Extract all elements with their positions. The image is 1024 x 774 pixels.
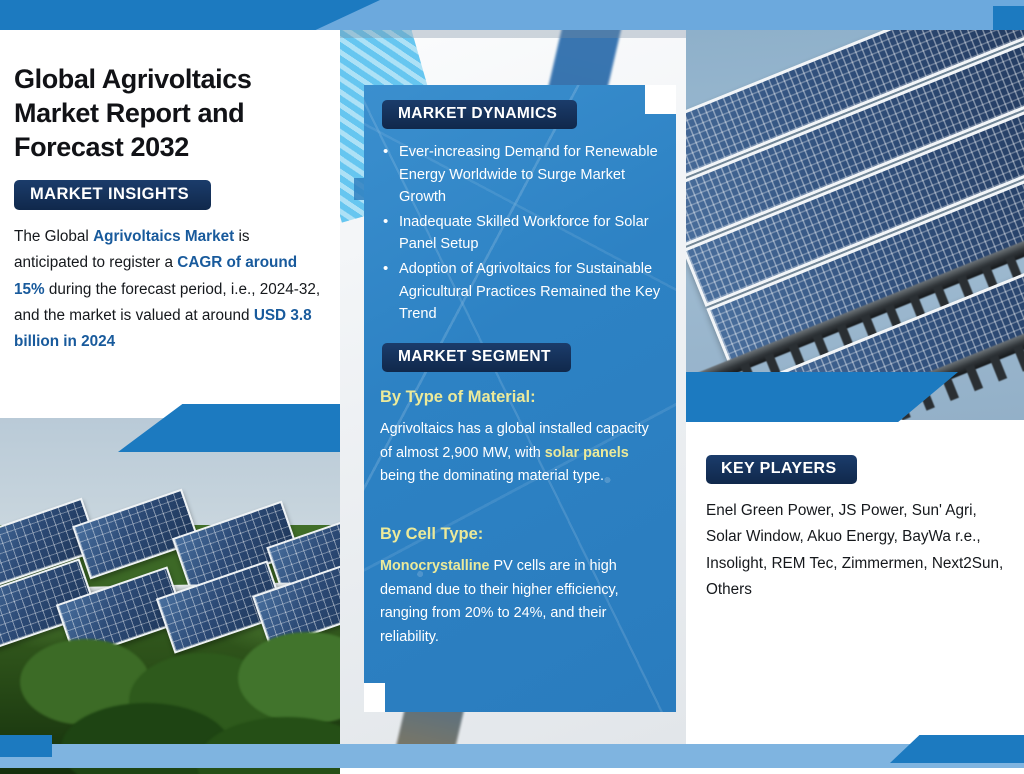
right-column: KEY PLAYERS Enel Green Power, JS Power, … bbox=[686, 30, 1024, 744]
bottom-light-band bbox=[0, 744, 1024, 768]
market-card: MARKET DYNAMICS Ever-increasing Demand f… bbox=[364, 85, 676, 712]
right-solar-photo bbox=[686, 30, 1024, 420]
segment-heading-material: By Type of Material: bbox=[380, 388, 662, 407]
segment-text-cell-type: Monocrystalline PV cells are in high dem… bbox=[380, 555, 662, 650]
segment-heading-cell-type: By Cell Type: bbox=[380, 525, 662, 544]
segment-text-material: Agrivoltaics has a global installed capa… bbox=[380, 418, 662, 489]
bottom-left-blue-square bbox=[0, 735, 52, 757]
infographic-canvas: Global Agrivoltaics Market Report and Fo… bbox=[0, 0, 1024, 768]
insights-bold-1: Agrivoltaics Market bbox=[93, 228, 234, 245]
right-text-area: KEY PLAYERS Enel Green Power, JS Power, … bbox=[706, 455, 1006, 603]
market-dynamics-badge: MARKET DYNAMICS bbox=[382, 100, 577, 129]
market-insights-text: The Global Agrivoltaics Market is antici… bbox=[14, 224, 326, 355]
left-blue-parallelogram bbox=[118, 404, 340, 452]
left-text-area: Global Agrivoltaics Market Report and Fo… bbox=[14, 62, 326, 356]
middle-top-shadow bbox=[340, 30, 686, 38]
insights-part-1: The Global bbox=[14, 228, 93, 245]
left-column: Global Agrivoltaics Market Report and Fo… bbox=[0, 30, 340, 744]
seg2-bold-1: Monocrystalline bbox=[380, 558, 490, 574]
list-item: Ever-increasing Demand for Renewable Ene… bbox=[380, 141, 662, 209]
seg1-bold-1: solar panels bbox=[545, 445, 629, 461]
list-item: Adoption of Agrivoltaics for Sustainable… bbox=[380, 258, 662, 326]
market-insights-badge: MARKET INSIGHTS bbox=[14, 180, 211, 210]
seg1-part-2: being the dominating material type. bbox=[380, 468, 604, 484]
solar-array-group bbox=[686, 30, 1024, 420]
key-players-badge: KEY PLAYERS bbox=[706, 455, 857, 484]
list-item: Inadequate Skilled Workforce for Solar P… bbox=[380, 211, 662, 256]
page-title: Global Agrivoltaics Market Report and Fo… bbox=[14, 62, 326, 164]
market-dynamics-list: Ever-increasing Demand for Renewable Ene… bbox=[380, 141, 662, 328]
key-players-text: Enel Green Power, JS Power, Sun' Agri, S… bbox=[706, 498, 1006, 603]
market-segment-badge: MARKET SEGMENT bbox=[382, 343, 571, 372]
left-solar-photo bbox=[0, 418, 340, 774]
card-content: MARKET DYNAMICS Ever-increasing Demand f… bbox=[364, 85, 676, 712]
